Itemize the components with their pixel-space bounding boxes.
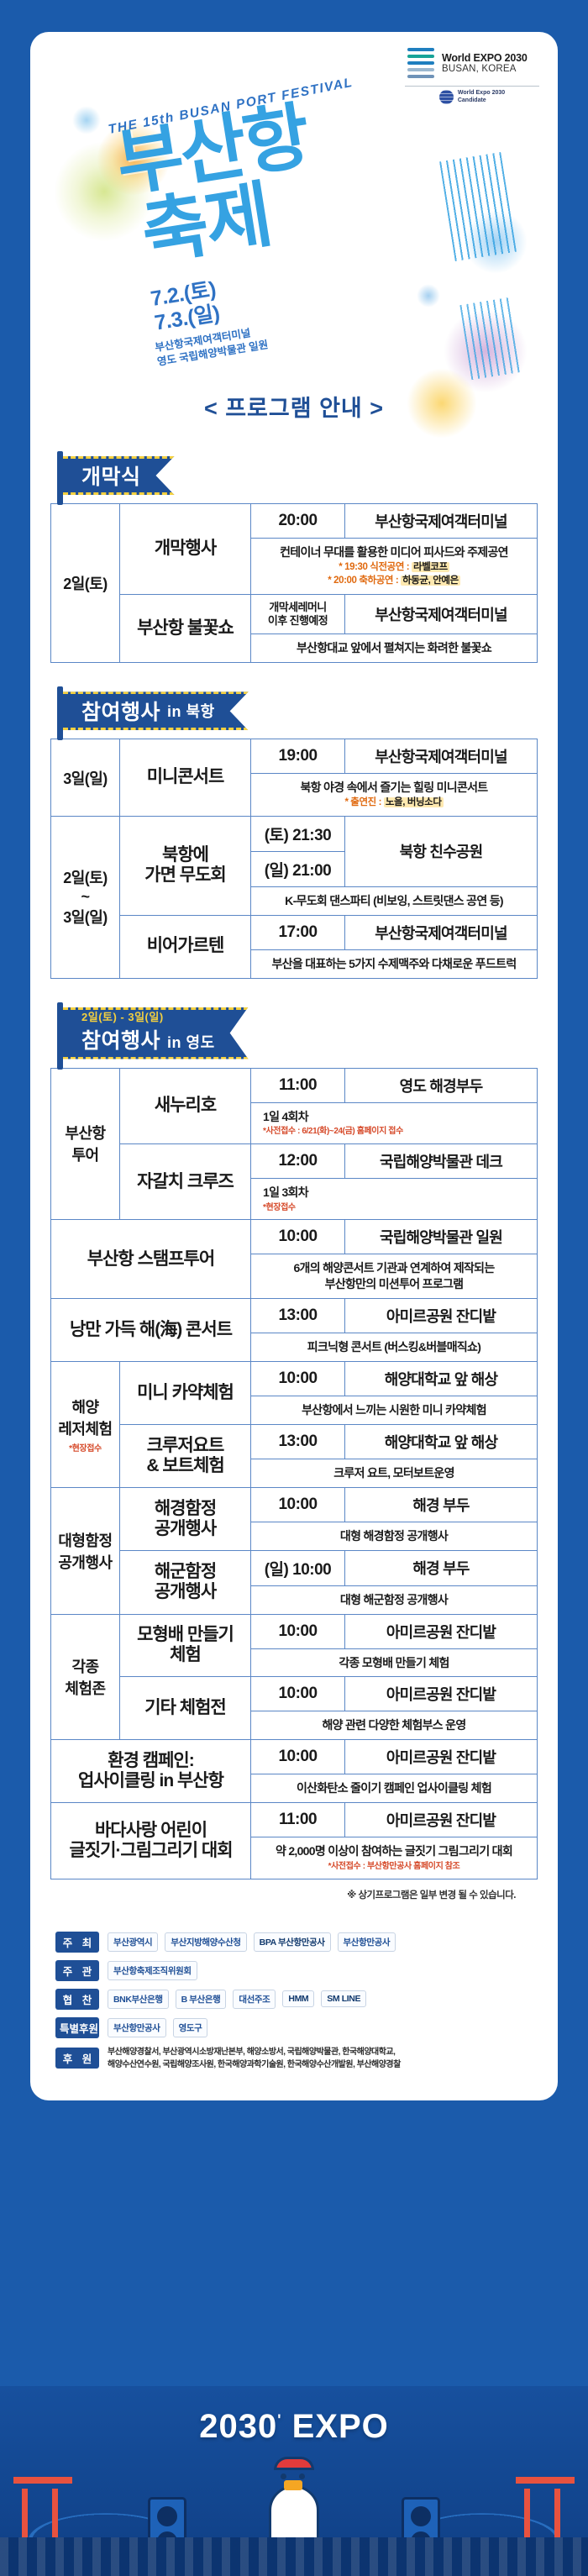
hero-korean-title: 부산항 축제 — [118, 134, 470, 266]
cell-description: 컨테이너 무대를 활용한 미디어 피사드와 주제공연 * 19:30 식전공연 … — [251, 539, 538, 595]
cell-place: 해경 부두 — [345, 1550, 538, 1585]
sponsor-chip: SM LINE — [321, 1990, 366, 2007]
cell-day: 대형함정 공개행사 — [51, 1487, 120, 1614]
cell-description: 대형 해군함정 공개행사 — [251, 1585, 538, 1614]
sponsor-chip: BNK부산은행 — [108, 1990, 169, 2009]
table-row: 자갈치 크루즈 12:00 국립해양박물관 데크 — [51, 1143, 538, 1178]
cell-time: (토) 21:30 — [251, 816, 345, 851]
expo-band-main: EXPO — [292, 2408, 389, 2445]
cell-time: (일) 10:00 — [251, 1550, 345, 1585]
firework-star-icon — [417, 284, 440, 308]
desc-text: 1일 3회차 — [263, 1185, 308, 1199]
cell-place: 국립해양박물관 일원 — [345, 1220, 538, 1254]
sponsor-row-host: 주 최 부산광역시 부산지방해양수산청 BPA 부산항만공사 부산항만공사 — [55, 1932, 533, 1953]
section-subtitle-bukhang: in 북항 — [167, 700, 215, 722]
firework-blue-small-icon — [72, 106, 101, 134]
cell-time: 10:00 — [251, 1740, 345, 1774]
cell-day-note: *현장접수 — [55, 1441, 115, 1454]
expo-band-sup: ' — [277, 2412, 281, 2429]
desc-text: 1일 4회차 — [263, 1110, 308, 1123]
flag-pole — [57, 1002, 63, 1070]
note-prefix: * 19:30 식전공연 : — [339, 562, 412, 572]
cell-description: 각종 모형배 만들기 체험 — [251, 1648, 538, 1677]
cell-time: 13:00 — [251, 1299, 345, 1333]
section-yeongdo: 2일(토) - 3일(일) 참여행사in 영도 부산항 투어 새누리호 11:0… — [30, 1007, 558, 1901]
sponsor-row-supporter: 협 찬 BNK부산은행 B 부산은행 대선주조 HMM SM LINE — [55, 1989, 533, 2010]
cell-place: 아미르공원 잔디밭 — [345, 1299, 538, 1333]
cell-time: 13:00 — [251, 1424, 345, 1459]
cell-description: 해양 관련 다양한 체험부스 운영 — [251, 1711, 538, 1740]
section-banner-label: 개막식 — [63, 456, 175, 495]
desc-note-1: * 출연진 : 노을, 버닝소다 — [255, 796, 533, 810]
cell-description: 대형 해경함정 공개행사 — [251, 1522, 538, 1550]
cell-program-name: 모형배 만들기 체험 — [120, 1614, 251, 1677]
table-row: 비어가르텐 17:00 부산항국제여객터미널 — [51, 915, 538, 949]
table-row: 낭만 가득 해(海) 콘서트 13:00 아미르공원 잔디밭 — [51, 1299, 538, 1333]
section-banner-yeongdo: 2일(토) - 3일(일) 참여행사in 영도 — [57, 1007, 538, 1066]
cell-program-name: 해경함정 공개행사 — [120, 1487, 251, 1550]
cell-program-name: 자갈치 크루즈 — [120, 1143, 251, 1219]
cell-program-name: 미니 카약체험 — [120, 1361, 251, 1424]
cell-place: 부산항국제여객터미널 — [345, 594, 538, 634]
cell-day: 각종 체험존 — [51, 1614, 120, 1740]
table-opening: 2일(토) 개막행사 20:00 부산항국제여객터미널 컨테이너 무대를 활용한… — [50, 503, 538, 663]
sponsor-label: 협 찬 — [55, 1989, 99, 2010]
cell-description: 부산항대교 앞에서 펼쳐지는 화려한 불꽃쇼 — [251, 634, 538, 663]
cell-program-name: 비어가르텐 — [120, 915, 251, 978]
cell-time: 개막세레머니 이후 진행예정 — [251, 594, 345, 634]
cell-program-name: 북항에 가면 무도회 — [120, 816, 251, 915]
cell-program-name: 해군함정 공개행사 — [120, 1550, 251, 1614]
table-row: 바다사랑 어린이 글짓기·그림그리기 대회 11:00 아미르공원 잔디밭 — [51, 1803, 538, 1837]
cell-description: 피크닉형 콘서트 (버스킹&버블매직쇼) — [251, 1333, 538, 1362]
cell-place: 부산항국제여객터미널 — [345, 915, 538, 949]
cell-time-2: (일) 21:00 — [251, 851, 345, 886]
table-row: 환경 캠페인: 업사이클링 in 부산항 10:00 아미르공원 잔디밭 — [51, 1740, 538, 1774]
table-row: 크루저요트 & 보트체험 13:00 해양대학교 앞 해상 — [51, 1424, 538, 1459]
table-row: 기타 체험전 10:00 아미르공원 잔디밭 — [51, 1677, 538, 1711]
sponsor-chip: 부산지방해양수산청 — [165, 1932, 246, 1952]
sponsor-chip: 부산항만공사 — [338, 1932, 396, 1952]
cell-program-name: 미니콘서트 — [120, 739, 251, 816]
cell-time: 10:00 — [251, 1677, 345, 1711]
cell-program-name: 바다사랑 어린이 글짓기·그림그리기 대회 — [51, 1803, 251, 1879]
section-bukhang: 참여행사 in 북항 3일(일) 미니콘서트 19:00 부산항국제여객터미널 … — [30, 691, 558, 978]
table-row: 대형함정 공개행사 해경함정 공개행사 10:00 해경 부두 — [51, 1487, 538, 1522]
table-row: 3일(일) 미니콘서트 19:00 부산항국제여객터미널 — [51, 739, 538, 774]
sponsor-label: 후 원 — [55, 2048, 99, 2069]
desc-note-1: * 19:30 식전공연 : 라벨코프 — [255, 561, 533, 575]
cell-time: 12:00 — [251, 1143, 345, 1178]
table-yeongdo: 부산항 투어 새누리호 11:00 영도 해경부두 1일 4회차 *사전접수 :… — [50, 1068, 538, 1879]
cell-description: 부산항에서 느끼는 시원한 미니 카약체험 — [251, 1396, 538, 1424]
cell-time: 10:00 — [251, 1361, 345, 1396]
cell-time: 17:00 — [251, 915, 345, 949]
expo-band-title: 2030' EXPO — [0, 2408, 588, 2446]
cell-day-label: 해양 레저체험 — [58, 1399, 112, 1438]
cell-program-name: 부산항 불꽃쇼 — [120, 594, 251, 662]
cell-time: 19:00 — [251, 739, 345, 774]
cell-day: 2일(토) — [51, 504, 120, 663]
table-row: 부산항 스탬프투어 10:00 국립해양박물관 일원 — [51, 1220, 538, 1254]
cell-place: 부산항국제여객터미널 — [345, 504, 538, 539]
table-row: 2일(토) ~ 3일(일) 북항에 가면 무도회 (토) 21:30 북항 친수… — [51, 816, 538, 851]
desc-text: 약 2,000명 이상이 참여하는 글짓기 그림그리기 대회 — [276, 1844, 512, 1858]
cell-day: 부산항 투어 — [51, 1068, 120, 1220]
cell-place: 해경 부두 — [345, 1487, 538, 1522]
cell-place: 해양대학교 앞 해상 — [345, 1361, 538, 1396]
cell-program-name: 개막행사 — [120, 504, 251, 595]
cell-program-name: 기타 체험전 — [120, 1677, 251, 1740]
note-highlight: 노을, 버닝소다 — [384, 797, 444, 807]
section-banner-label: 참여행사 in 북항 — [63, 691, 249, 730]
sponsor-chip: 부산광역시 — [108, 1932, 158, 1952]
sponsor-chip: HMM — [282, 1990, 314, 2007]
sponsor-row-special: 특별후원 부산항만공사 영도구 — [55, 2017, 533, 2038]
sponsor-row-patron: 후 원 부산해양경찰서, 부산광역시소방재난본부, 해양소방서, 국립해양박물관… — [55, 2046, 533, 2071]
cell-place: 국립해양박물관 데크 — [345, 1143, 538, 1178]
note-prefix: * 20:00 축하공연 : — [328, 576, 401, 586]
flag-pole — [57, 686, 63, 740]
table-bukhang: 3일(일) 미니콘서트 19:00 부산항국제여객터미널 북항 야경 속에서 즐… — [50, 739, 538, 978]
cell-program-name: 환경 캠페인: 업사이클링 in 부산항 — [51, 1740, 251, 1803]
section-banner-opening: 개막식 — [57, 456, 538, 502]
poster-card: World EXPO 2030 BUSAN, KOREA World Expo … — [30, 32, 558, 2100]
page-title: < 프로그램 안내 > — [30, 390, 558, 423]
building-stripes-decoration-2 — [459, 297, 521, 380]
cell-place: 아미르공원 잔디밭 — [345, 1803, 538, 1837]
cell-place: 영도 해경부두 — [345, 1068, 538, 1102]
cell-description: K-무도회 댄스파티 (비보잉, 스트릿댄스 공연 등) — [251, 886, 538, 915]
cell-place: 아미르공원 잔디밭 — [345, 1614, 538, 1648]
cell-place: 아미르공원 잔디밭 — [345, 1740, 538, 1774]
cell-day: 2일(토) ~ 3일(일) — [51, 816, 120, 978]
table-row: 부산항 투어 새누리호 11:00 영도 해경부두 — [51, 1068, 538, 1102]
section-title-yeongdo: 참여행사 — [81, 1029, 160, 1053]
desc-note-red: *현장접수 — [263, 1202, 533, 1214]
cell-place: 아미르공원 잔디밭 — [345, 1677, 538, 1711]
sponsor-label: 주 최 — [55, 1932, 99, 1953]
table-row: 각종 체험존 모형배 만들기 체험 10:00 아미르공원 잔디밭 — [51, 1614, 538, 1648]
desc-note-2: * 20:00 축하공연 : 하동균, 안예은 — [255, 575, 533, 588]
sponsor-patron-text: 부산해양경찰서, 부산광역시소방재난본부, 해양소방서, 국립해양박물관, 한국… — [108, 2046, 401, 2071]
cell-place: 부산항국제여객터미널 — [345, 739, 538, 774]
cell-time: 11:00 — [251, 1068, 345, 1102]
section-title-bukhang: 참여행사 — [81, 696, 160, 726]
cell-time: 11:00 — [251, 1803, 345, 1837]
cell-program-name: 낭만 가득 해(海) 콘서트 — [51, 1299, 251, 1362]
cell-description: 이산화탄소 줄이기 캠페인 업사이클링 체험 — [251, 1774, 538, 1803]
cell-description: 6개의 해양콘서트 기관과 연계하여 제작되는 부산항만의 미션투어 프로그램 — [251, 1254, 538, 1299]
section-opening: 개막식 2일(토) 개막행사 20:00 부산항국제여객터미널 컨테이너 무대를… — [30, 456, 558, 663]
table-row: 해군함정 공개행사 (일) 10:00 해경 부두 — [51, 1550, 538, 1585]
hero-section: THE 15th BUSAN PORT FESTIVAL 부산항 축제 7.2.… — [30, 32, 558, 385]
expo-band-year: 2030 — [199, 2408, 277, 2445]
sponsors-section: 주 최 부산광역시 부산지방해양수산청 BPA 부산항만공사 부산항만공사 주 … — [30, 1910, 558, 2071]
desc-text: 컨테이너 무대를 활용한 미디어 피사드와 주제공연 — [280, 545, 508, 559]
bottom-expo-band: 2030' EXPO — [0, 2386, 588, 2576]
desc-text: 북항 야경 속에서 즐기는 힐링 미니콘서트 — [300, 781, 487, 794]
sponsor-chip: 부산항만공사 — [108, 2018, 166, 2037]
sponsor-chip: BPA 부산항만공사 — [254, 1932, 331, 1952]
note-highlight: 라벨코프 — [412, 562, 449, 572]
sponsor-chip: B 부산은행 — [176, 1990, 227, 2009]
section-dates-yeongdo: 2일(토) - 3일(일) — [81, 1012, 215, 1023]
cell-day: 3일(일) — [51, 739, 120, 816]
hero-dates: 7.2.(토) 7.3.(일) — [149, 277, 221, 335]
footnote: ※ 상기프로그램은 일부 변경 될 수 있습니다. — [50, 1879, 538, 1901]
sponsor-row-organizer: 주 관 부산항축제조직위원회 — [55, 1960, 533, 1981]
section-banner-label: 2일(토) - 3일(일) 참여행사in 영도 — [63, 1007, 249, 1059]
sponsor-label: 특별후원 — [55, 2017, 99, 2038]
note-prefix: * 출연진 : — [344, 797, 383, 807]
sponsor-chip: 부산항축제조직위원회 — [108, 1961, 197, 1980]
section-title-opening: 개막식 — [81, 460, 141, 491]
sponsor-label: 주 관 — [55, 1960, 99, 1981]
water-illustration — [0, 2537, 588, 2576]
sponsor-chip: 영도구 — [173, 2018, 208, 2037]
cell-time: 20:00 — [251, 504, 345, 539]
cell-day: 해양 레저체험 *현장접수 — [51, 1361, 120, 1487]
cell-program-name: 크루저요트 & 보트체험 — [120, 1424, 251, 1487]
desc-note-red: *사전접수 : 부산항만공사 홈페이지 참조 — [255, 1861, 533, 1873]
cell-place: 해양대학교 앞 해상 — [345, 1424, 538, 1459]
table-row: 부산항 불꽃쇼 개막세레머니 이후 진행예정 부산항국제여객터미널 — [51, 594, 538, 634]
cell-description: 크루저 요트, 모터보트운영 — [251, 1459, 538, 1487]
crane-icon-right — [516, 2468, 575, 2542]
flag-pole — [57, 451, 63, 505]
desc-note-red: *사전접수 : 6/21(화)~24(금) 홈페이지 접수 — [263, 1126, 533, 1138]
cell-description: 부산을 대표하는 5가지 수제맥주와 다채로운 푸드트럭 — [251, 949, 538, 978]
cell-program-name: 부산항 스탬프투어 — [51, 1220, 251, 1299]
table-row: 2일(토) 개막행사 20:00 부산항국제여객터미널 — [51, 504, 538, 539]
section-subtitle-yeongdo: in 영도 — [167, 1034, 215, 1051]
cell-place: 북항 친수공원 — [345, 816, 538, 886]
cell-description: 1일 3회차 *현장접수 — [251, 1178, 538, 1219]
sponsor-chip: 대선주조 — [233, 1990, 276, 2009]
cell-description: 북항 야경 속에서 즐기는 힐링 미니콘서트 * 출연진 : 노을, 버닝소다 — [251, 774, 538, 816]
note-highlight: 하동균, 안예은 — [401, 576, 460, 586]
cell-program-name: 새누리호 — [120, 1068, 251, 1143]
crane-icon-left — [13, 2468, 72, 2542]
cell-time: 10:00 — [251, 1220, 345, 1254]
section-banner-bukhang: 참여행사 in 북항 — [57, 691, 538, 737]
cell-description: 1일 4회차 *사전접수 : 6/21(화)~24(금) 홈페이지 접수 — [251, 1102, 538, 1143]
cell-time: 10:00 — [251, 1487, 345, 1522]
table-row: 해양 레저체험 *현장접수 미니 카약체험 10:00 해양대학교 앞 해상 — [51, 1361, 538, 1396]
cell-description: 약 2,000명 이상이 참여하는 글짓기 그림그리기 대회 *사전접수 : 부… — [251, 1837, 538, 1879]
cell-time: 10:00 — [251, 1614, 345, 1648]
